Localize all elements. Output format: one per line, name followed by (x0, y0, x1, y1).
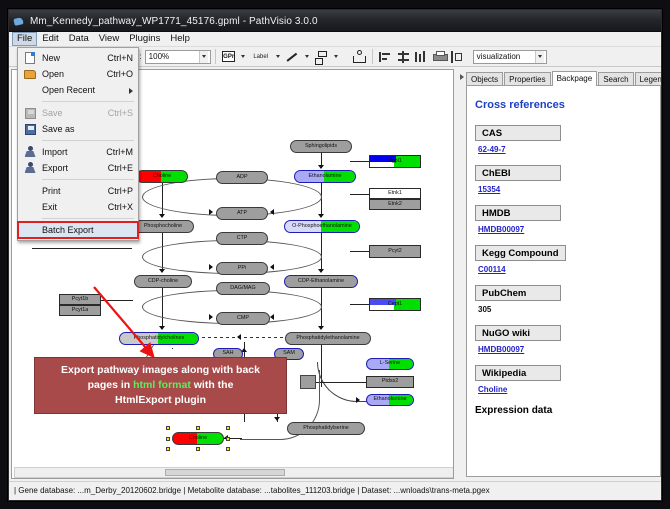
resize-handle[interactable] (226, 447, 230, 451)
node-label: PPi (238, 266, 246, 271)
menu-view[interactable]: View (94, 32, 124, 46)
pathway-node-phosphatidylethanolamine[interactable]: Phosphatidylethanolamine (285, 332, 371, 345)
pathway-node-choline-top[interactable]: Choline (136, 170, 188, 183)
menu-item-open-recent[interactable]: Open Recent (18, 82, 138, 98)
menu-item-label: Save as (42, 124, 133, 134)
backpage-panel: Cross references CAS62-49-7ChEBI15354HMD… (466, 85, 661, 477)
node-label: Ptdss2 (382, 379, 398, 384)
arrow-icon (318, 165, 324, 169)
group-button-icon[interactable] (450, 49, 466, 65)
menu-item-open[interactable]: OpenCtrl+O (18, 66, 138, 82)
node-label: CTP (237, 236, 248, 241)
shape-tool-icon[interactable] (314, 49, 330, 65)
stack-button-icon[interactable] (432, 49, 448, 65)
arrow-icon (270, 314, 274, 320)
menu-item-label: Print (42, 186, 108, 196)
node-label: Ethanolamine (309, 174, 342, 179)
node-label: Ethanolamine (374, 397, 407, 402)
xref-db-label: HMDB (475, 205, 561, 221)
node-label: CMP (237, 316, 249, 321)
red-annotation-arrow (92, 285, 164, 363)
arrow-icon (209, 314, 213, 320)
menu-item-import[interactable]: ImportCtrl+M (18, 144, 138, 160)
menu-item-label: New (42, 53, 107, 63)
xref-link[interactable]: 62-49-7 (478, 145, 506, 154)
resize-handle[interactable] (226, 426, 230, 430)
xref-value[interactable]: Choline (478, 385, 647, 394)
menu-icon-slot (18, 222, 42, 238)
xref-value[interactable]: HMDB00097 (478, 345, 647, 354)
node-label: Phosphocholine (144, 224, 182, 229)
menu-item-export[interactable]: ExportCtrl+E (18, 160, 138, 176)
geneproduct-dropdown-icon[interactable] (238, 49, 249, 65)
tab-properties[interactable]: Properties (504, 72, 550, 86)
pathway-node-phosphocholine[interactable]: Phosphocholine (132, 220, 194, 233)
geneproduct-tool-icon[interactable]: GPr (221, 49, 237, 65)
panel-tabs: Objects Properties Backpage Search Legen… (466, 71, 661, 86)
pathway-node-adp[interactable]: ADP (216, 171, 268, 184)
pathway-node-ethanolamine-top[interactable]: Ethanolamine (294, 170, 356, 183)
callout-line2-a: pages in (88, 379, 134, 391)
save-as-icon (18, 121, 42, 137)
pathway-node-cmp[interactable]: CMP (216, 312, 270, 325)
pathway-node-pcyt2[interactable]: Pcyt2 (369, 245, 421, 258)
cross-references-title: Cross references (475, 99, 647, 111)
menu-item-accelerator: Ctrl+P (108, 186, 138, 196)
pathway-node-etnk1[interactable]: Etnk1 (369, 188, 421, 199)
menu-item-save-as[interactable]: Save as (18, 121, 138, 137)
pathway-node-etnk2[interactable]: Etnk2 (369, 199, 421, 210)
pathway-node-ctp[interactable]: CTP (216, 232, 268, 245)
xref-db-label: NuGO wiki (475, 325, 561, 341)
menu-item-label: Import (42, 147, 106, 157)
menu-icon-slot (18, 199, 42, 215)
node-label: Etnk2 (388, 202, 402, 207)
menu-item-exit[interactable]: ExitCtrl+X (18, 199, 138, 215)
arrow-icon (270, 209, 274, 215)
arrow-icon (318, 269, 324, 273)
tab-objects[interactable]: Objects (466, 72, 503, 86)
chevron-down-icon (535, 51, 544, 63)
gene-box-icon: GPr (222, 51, 235, 62)
pathway-node-l-serine[interactable]: L-Serine (366, 358, 414, 370)
chevron-down-icon (199, 51, 208, 63)
node-label: Choline (153, 174, 171, 179)
node-label: CDP-choline (148, 279, 178, 284)
pathway-node-ethanolamine-low[interactable]: Ethanolamine (366, 394, 414, 406)
menu-item-print[interactable]: PrintCtrl+P (18, 183, 138, 199)
node-label: Choline (189, 436, 207, 441)
status-text: | Gene database: ...m_Derby_20120602.bri… (14, 486, 490, 495)
node-label: O-Phosphoethanolamine (292, 224, 352, 229)
node-label: SAH (222, 351, 233, 356)
xref-value[interactable]: C00114 (478, 265, 647, 274)
pathway-node-ptdss2[interactable]: Ptdss2 (366, 376, 414, 388)
node-label: Sgpl1 (388, 159, 402, 164)
pathway-node-atp[interactable]: ATP (216, 207, 268, 220)
pathway-node-sgpl1[interactable]: Sgpl1 (369, 155, 421, 168)
annotation-callout: Export pathway images along with back pa… (34, 357, 287, 414)
cross-reference-list: CAS62-49-7ChEBI15354HMDBHMDB00097Kegg Co… (475, 125, 647, 394)
menu-item-new[interactable]: NewCtrl+N (18, 50, 138, 66)
import-icon (18, 144, 42, 160)
node-label: Sphingolipids (305, 144, 337, 149)
menu-separator (42, 179, 134, 180)
xref-link[interactable]: C00114 (478, 265, 506, 274)
node-label: Pcyt2 (388, 249, 401, 254)
menu-item-accelerator: Ctrl+S (108, 108, 138, 118)
title-bar: Mm_Kennedy_pathway_WP1771_45176.gpml - P… (9, 10, 662, 32)
file-menu-dropdown[interactable]: NewCtrl+NOpenCtrl+OOpen RecentSaveCtrl+S… (17, 47, 139, 241)
export-icon (18, 160, 42, 176)
menu-icon-slot (18, 183, 42, 199)
resize-handle[interactable] (166, 426, 170, 430)
zoom-combo[interactable]: 100% (145, 50, 211, 64)
arrow-icon (209, 209, 213, 215)
pathvisio-icon (13, 15, 25, 27)
tab-legend[interactable]: Legend (635, 72, 662, 86)
node-label: CDP-Ethanolamine (298, 279, 344, 284)
shape-dropdown-icon[interactable] (331, 49, 342, 65)
save-icon (18, 105, 42, 121)
menu-item-label: Exit (42, 202, 108, 212)
visualization-value: visualization (477, 52, 521, 61)
tab-backpage[interactable]: Backpage (552, 71, 598, 86)
menu-item-save: SaveCtrl+S (18, 105, 138, 121)
menu-separator (42, 140, 134, 141)
menu-help[interactable]: Help (165, 32, 195, 46)
xref-db-label: Wikipedia (475, 365, 561, 381)
menu-plugins[interactable]: Plugins (124, 32, 165, 46)
menu-item-label: Save (42, 108, 108, 118)
pathway-node-cdp-ethanolamine[interactable]: CDP-Ethanolamine (284, 275, 358, 288)
menu-icon-slot (18, 82, 42, 98)
edge-dashed (202, 337, 287, 338)
resize-handle[interactable] (196, 426, 200, 430)
pathvisio-window: Mm_Kennedy_pathway_WP1771_45176.gpml - P… (8, 9, 662, 501)
menu-item-batch-export[interactable]: Batch Export (18, 222, 138, 238)
edge (350, 251, 370, 252)
backpage-content: Cross references CAS62-49-7ChEBI15354HMD… (467, 86, 647, 477)
xref-db-label: Kegg Compound (475, 245, 566, 261)
resize-handle[interactable] (226, 437, 230, 441)
xref-value: 305 (478, 305, 647, 314)
arrow-icon (318, 214, 324, 218)
menu-separator (42, 218, 134, 219)
canvas-hscroll-thumb[interactable] (165, 469, 285, 476)
menu-file[interactable]: File (12, 32, 37, 46)
arrow-icon (159, 214, 165, 218)
edge (32, 248, 132, 249)
menu-item-accelerator: Ctrl+E (108, 163, 138, 173)
menu-item-accelerator: Ctrl+M (106, 147, 138, 157)
visualization-combo[interactable]: visualization (473, 50, 547, 64)
xref-value[interactable]: 15354 (478, 185, 647, 194)
xref-link[interactable]: Choline (478, 385, 507, 394)
expression-data-heading: Expression data (475, 405, 647, 416)
node-label: DAG/MAG (230, 286, 255, 291)
pathway-node-cept1[interactable]: Cept1 (369, 298, 421, 311)
node-label: Etnk1 (388, 191, 402, 196)
node-label: Pcyt1b (72, 297, 88, 302)
node-label: Phosphatidylethanolamine (296, 336, 359, 341)
callout-line2-b: with the (191, 379, 234, 391)
pathway-node-phosphatidylserine[interactable]: Phosphatidylserine (287, 422, 365, 435)
callout-line1: Export pathway images along with back (61, 364, 260, 376)
edge (321, 233, 322, 271)
pathway-node-sphingolipids[interactable]: Sphingolipids (290, 140, 352, 153)
line-dropdown-icon[interactable] (302, 49, 313, 65)
status-bar: | Gene database: ...m_Derby_20120602.bri… (9, 481, 662, 501)
menu-item-label: Open (42, 69, 107, 79)
node-label: ADP (236, 175, 247, 180)
label-dropdown-icon[interactable] (273, 49, 284, 65)
canvas-hscrollbar[interactable] (14, 467, 454, 478)
callout-line3: HtmlExport plugin (115, 394, 206, 406)
node-label: ATP (237, 211, 247, 216)
align-left-icon[interactable] (378, 49, 394, 65)
xref-value[interactable]: 62-49-7 (478, 145, 647, 154)
arrow-icon (270, 264, 274, 270)
arrow-icon (237, 334, 241, 340)
label-tool-icon[interactable]: Label (250, 49, 272, 65)
node-label: Phosphatidylserine (303, 426, 349, 431)
menu-item-accelerator: Ctrl+X (108, 202, 138, 212)
menu-item-accelerator: Ctrl+N (107, 53, 138, 63)
menu-item-label: Open Recent (42, 85, 133, 95)
label-text-icon: Label (253, 54, 268, 60)
node-label: L-Serine (380, 361, 400, 366)
menu-item-accelerator: Ctrl+O (107, 69, 138, 79)
align-columns-icon[interactable] (414, 49, 430, 65)
menu-separator (42, 101, 134, 102)
xref-db-label: CAS (475, 125, 561, 141)
xref-db-label: PubChem (475, 285, 561, 301)
align-center-icon[interactable] (396, 49, 412, 65)
arrow-icon (356, 397, 360, 403)
resize-handle[interactable] (196, 447, 200, 451)
edge (350, 304, 370, 305)
pathway-node-dag-mag[interactable]: DAG/MAG (216, 282, 270, 295)
arrow-icon (159, 269, 165, 273)
menu-bar: File Edit Data View Plugins Help (9, 32, 662, 47)
node-label: Pcyt1a (72, 308, 88, 313)
line-tool-icon[interactable] (285, 49, 301, 65)
xref-link[interactable]: 15354 (478, 185, 500, 194)
anchor-tool-icon[interactable] (351, 49, 367, 65)
xref-link[interactable]: HMDB00097 (478, 345, 524, 354)
menu-item-label: Export (42, 163, 108, 173)
resize-handle[interactable] (166, 447, 170, 451)
side-panel: Objects Properties Backpage Search Legen… (458, 69, 661, 479)
node-label: SAM (283, 351, 295, 356)
arrow-icon (209, 264, 213, 270)
tab-search[interactable]: Search (598, 72, 633, 86)
edge (350, 194, 370, 195)
menu-item-label: Batch Export (42, 225, 133, 235)
pathway-node-o-phosphoethanolamine[interactable]: O-Phosphoethanolamine (284, 220, 360, 233)
edge (350, 161, 370, 162)
zoom-value: 100% (149, 52, 169, 61)
xref-value[interactable]: HMDB00097 (478, 225, 647, 234)
xref-db-label: ChEBI (475, 165, 561, 181)
window-title: Mm_Kennedy_pathway_WP1771_45176.gpml - P… (30, 16, 318, 27)
resize-handle[interactable] (166, 437, 170, 441)
menu-edit[interactable]: Edit (37, 32, 63, 46)
pathway-node-ppi[interactable]: PPi (216, 262, 268, 275)
callout-highlight: html format (133, 379, 191, 391)
edge (312, 382, 366, 383)
panel-collapse-icon[interactable] (459, 73, 465, 83)
node-label: Cept1 (388, 302, 402, 307)
open-folder-icon (18, 66, 42, 82)
new-file-icon (18, 50, 42, 66)
xref-link[interactable]: HMDB00097 (478, 225, 524, 234)
menu-data[interactable]: Data (64, 32, 94, 46)
screenshot-frame: Mm_Kennedy_pathway_WP1771_45176.gpml - P… (0, 0, 670, 509)
arrow-icon (318, 326, 324, 330)
